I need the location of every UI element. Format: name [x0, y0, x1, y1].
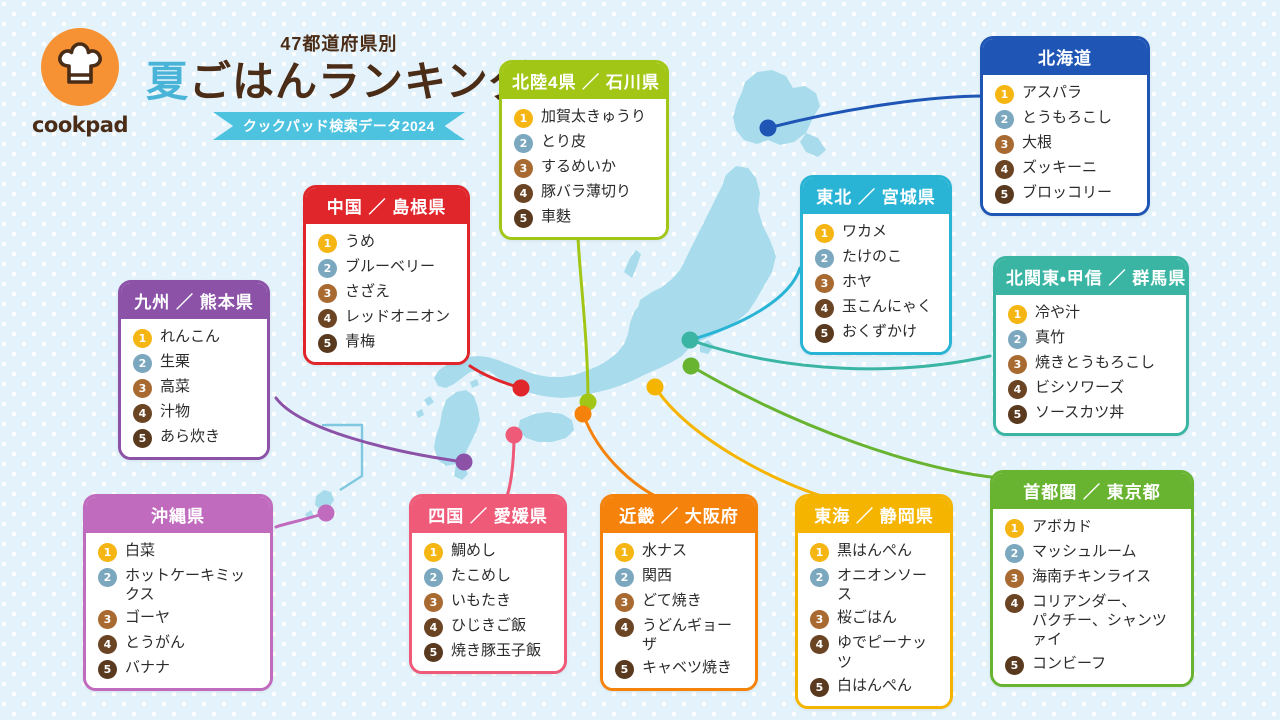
rank-item: 1れんこん — [133, 327, 256, 348]
rank-item: 5ソースカツ丼 — [1008, 403, 1175, 424]
card-body-kitakanto: 1冷や汁2真竹3焼きとうもろこし4ビシソワーズ5ソースカツ丼 — [996, 295, 1186, 433]
rank-item: 1うめ — [318, 232, 456, 253]
rank-label: れんこん — [160, 327, 220, 346]
card-title-kyushu: 九州 ／ 熊本県 — [121, 283, 267, 319]
card-tohoku[interactable]: 東北 ／ 宮城県1ワカメ2たけのこ3ホヤ4玉こんにゃく5おくずかけ — [800, 175, 952, 355]
rank-label: うどんギョーザ — [642, 616, 744, 654]
rank-label: ビシソワーズ — [1035, 378, 1124, 397]
rank-badge-1: 1 — [318, 234, 337, 253]
rank-item: 3いもたき — [424, 591, 553, 612]
card-body-tohoku: 1ワカメ2たけのこ3ホヤ4玉こんにゃく5おくずかけ — [803, 214, 949, 352]
rank-label: ブロッコリー — [1022, 183, 1112, 202]
rank-badge-1: 1 — [810, 543, 829, 562]
rank-label: キャベツ焼き — [642, 658, 732, 677]
rank-badge-3: 3 — [995, 135, 1014, 154]
rank-item: 5おくずかけ — [815, 322, 938, 343]
rank-badge-1: 1 — [1008, 305, 1027, 324]
rank-badge-5: 5 — [98, 660, 117, 679]
rank-badge-5: 5 — [514, 209, 533, 228]
dot-shikoku — [506, 427, 523, 444]
rank-item: 5あら炊き — [133, 427, 256, 448]
rank-badge-1: 1 — [615, 543, 634, 562]
rank-item: 4レッドオニオン — [318, 307, 456, 328]
rank-item: 1白菜 — [98, 541, 259, 562]
rank-label: オニオンソース — [837, 566, 939, 604]
rank-label: たけのこ — [842, 247, 902, 266]
rank-badge-1: 1 — [424, 543, 443, 562]
connector-okinawa — [276, 513, 326, 527]
rank-item: 1ワカメ — [815, 222, 938, 243]
rank-label: コリアンダー、 パクチー、シャンツァイ — [1032, 592, 1180, 650]
rank-badge-4: 4 — [98, 635, 117, 654]
rank-item: 3するめいか — [514, 157, 655, 178]
rank-label: 黒はんぺん — [837, 541, 912, 560]
connector-kyushu — [276, 398, 464, 462]
rank-label: 冷や汁 — [1035, 303, 1080, 322]
rank-item: 4コリアンダー、 パクチー、シャンツァイ — [1005, 592, 1180, 650]
rank-badge-3: 3 — [1008, 355, 1027, 374]
rank-label: ワカメ — [842, 222, 887, 241]
connector-shikoku — [506, 435, 514, 498]
rank-item: 3高菜 — [133, 377, 256, 398]
header: cookpad 47都道府県別 夏ごはんランキング クックパッド検索データ202… — [28, 22, 532, 140]
connector-kinki — [583, 414, 660, 498]
rank-item: 3海南チキンライス — [1005, 567, 1180, 588]
card-body-hokkaido: 1アスパラ2とうもろこし3大根4ズッキーニ5ブロッコリー — [983, 75, 1147, 213]
rank-badge-3: 3 — [133, 379, 152, 398]
card-kitakanto[interactable]: 北関東・甲信 ／ 群馬県1冷や汁2真竹3焼きとうもろこし4ビシソワーズ5ソースカ… — [993, 256, 1189, 436]
rank-badge-4: 4 — [133, 404, 152, 423]
rank-item: 5車麩 — [514, 207, 655, 228]
card-body-kinki: 1水ナス2関西3どて焼き4うどんギョーザ5キャベツ焼き — [603, 533, 755, 688]
card-kinki[interactable]: 近畿 ／ 大阪府1水ナス2関西3どて焼き4うどんギョーザ5キャベツ焼き — [600, 494, 758, 691]
card-title-kinki: 近畿 ／ 大阪府 — [603, 497, 755, 533]
card-body-shikoku: 1鯛めし2たこめし3いもたき4ひじきご飯5焼き豚玉子飯 — [412, 533, 564, 671]
rank-badge-3: 3 — [810, 610, 829, 629]
rank-label: ゴーヤ — [125, 608, 170, 627]
data-source-ribbon: クックパッド検索データ2024 — [213, 112, 465, 140]
rank-item: 3ゴーヤ — [98, 608, 259, 629]
rank-item: 2真竹 — [1008, 328, 1175, 349]
rank-label: バナナ — [125, 658, 170, 677]
rank-label: 焼きとうもろこし — [1035, 353, 1155, 372]
rank-label: 生栗 — [160, 352, 190, 371]
card-hokuriku[interactable]: 北陸4県 ／ 石川県1加賀太きゅうり2とり皮3するめいか4豚バラ薄切り5車麩 — [499, 60, 669, 240]
rank-badge-2: 2 — [133, 354, 152, 373]
cookpad-wordmark: cookpad — [32, 113, 128, 137]
rank-label: たこめし — [451, 566, 511, 585]
title-season: 夏 — [146, 58, 189, 105]
rank-item: 1水ナス — [615, 541, 744, 562]
dot-tokai — [647, 379, 664, 396]
chef-hat-icon — [41, 28, 119, 106]
rank-label: 豚バラ薄切り — [541, 182, 631, 201]
rank-label: ゆでピーナッツ — [837, 633, 939, 671]
connector-tokai — [655, 387, 828, 498]
rank-item: 4とうがん — [98, 633, 259, 654]
rank-badge-1: 1 — [514, 109, 533, 128]
title-rest: ごはんランキング — [189, 58, 532, 105]
rank-badge-4: 4 — [815, 299, 834, 318]
card-title-hokuriku: 北陸4県 ／ 石川県 — [502, 63, 666, 99]
rank-badge-2: 2 — [1005, 544, 1024, 563]
rank-label: とり皮 — [541, 132, 586, 151]
rank-item: 4玉こんにゃく — [815, 297, 938, 318]
rank-item: 5キャベツ焼き — [615, 658, 744, 679]
card-title-tokai: 東海 ／ 静岡県 — [798, 497, 950, 533]
rank-item: 5焼き豚玉子飯 — [424, 641, 553, 662]
rank-label: いもたき — [451, 591, 511, 610]
rank-item: 1アスパラ — [995, 83, 1136, 104]
card-title-tohoku: 東北 ／ 宮城県 — [803, 178, 949, 214]
dot-tokyo — [683, 358, 700, 375]
rank-badge-5: 5 — [815, 324, 834, 343]
rank-item: 1冷や汁 — [1008, 303, 1175, 324]
card-body-kyushu: 1れんこん2生栗3高菜4汁物5あら炊き — [121, 319, 267, 457]
rank-item: 1アボカド — [1005, 517, 1180, 538]
rank-badge-4: 4 — [1005, 594, 1024, 613]
rank-label: ブルーベリー — [345, 257, 435, 276]
rank-label: 水ナス — [642, 541, 687, 560]
rank-label: ズッキーニ — [1022, 158, 1097, 177]
card-shikoku[interactable]: 四国 ／ 愛媛県1鯛めし2たこめし3いもたき4ひじきご飯5焼き豚玉子飯 — [409, 494, 567, 674]
dot-kyushu — [456, 454, 473, 471]
rank-label: うめ — [345, 232, 375, 251]
dot-hokuriku — [580, 394, 597, 411]
rank-item: 2生栗 — [133, 352, 256, 373]
card-body-tokai: 1黒はんぺん2オニオンソース3桜ごはん4ゆでピーナッツ5白はんぺん — [798, 533, 950, 706]
rank-badge-2: 2 — [514, 134, 533, 153]
rank-badge-3: 3 — [815, 274, 834, 293]
rank-item: 3どて焼き — [615, 591, 744, 612]
rank-item: 4ビシソワーズ — [1008, 378, 1175, 399]
rank-label: アスパラ — [1022, 83, 1082, 102]
rank-item: 2ブルーベリー — [318, 257, 456, 278]
rank-item: 5ブロッコリー — [995, 183, 1136, 204]
rank-badge-1: 1 — [98, 543, 117, 562]
rank-item: 3大根 — [995, 133, 1136, 154]
rank-item: 4ひじきご飯 — [424, 616, 553, 637]
rank-item: 2関西 — [615, 566, 744, 587]
rank-badge-2: 2 — [98, 568, 117, 587]
infographic-stage: cookpad 47都道府県別 夏ごはんランキング クックパッド検索データ202… — [0, 0, 1280, 720]
rank-badge-3: 3 — [318, 284, 337, 303]
rank-item: 1加賀太きゅうり — [514, 107, 655, 128]
rank-label: 関西 — [642, 566, 672, 585]
card-body-chugoku: 1うめ2ブルーベリー3さざえ4レッドオニオン5青梅 — [306, 224, 467, 362]
rank-label: さざえ — [345, 282, 390, 301]
rank-badge-3: 3 — [514, 159, 533, 178]
rank-label: どて焼き — [642, 591, 702, 610]
dot-okinawa — [318, 505, 335, 522]
card-tokai[interactable]: 東海 ／ 静岡県1黒はんぺん2オニオンソース3桜ごはん4ゆでピーナッツ5白はんぺ… — [795, 494, 953, 709]
card-title-shikoku: 四国 ／ 愛媛県 — [412, 497, 564, 533]
rank-label: 鯛めし — [451, 541, 496, 560]
rank-badge-2: 2 — [615, 568, 634, 587]
rank-item: 2たけのこ — [815, 247, 938, 268]
rank-label: マッシュルーム — [1032, 542, 1137, 561]
rank-badge-1: 1 — [995, 85, 1014, 104]
rank-badge-5: 5 — [318, 334, 337, 353]
rank-label: とうがん — [125, 633, 185, 652]
rank-badge-2: 2 — [1008, 330, 1027, 349]
rank-label: レッドオニオン — [345, 307, 450, 326]
dot-chugoku — [513, 380, 530, 397]
rank-item: 3さざえ — [318, 282, 456, 303]
card-kyushu[interactable]: 九州 ／ 熊本県1れんこん2生栗3高菜4汁物5あら炊き — [118, 280, 270, 460]
rank-label: 大根 — [1022, 133, 1052, 152]
rank-label: アボカド — [1032, 517, 1092, 536]
rank-badge-3: 3 — [615, 593, 634, 612]
rank-badge-2: 2 — [318, 259, 337, 278]
rank-label: 加賀太きゅうり — [541, 107, 646, 126]
rank-item: 3ホヤ — [815, 272, 938, 293]
rank-item: 4汁物 — [133, 402, 256, 423]
rank-badge-1: 1 — [1005, 519, 1024, 538]
connector-hokuriku — [578, 238, 588, 402]
rank-badge-5: 5 — [810, 678, 829, 697]
rank-badge-4: 4 — [810, 635, 829, 654]
connector-tokyo — [691, 366, 1000, 478]
okinawa-bracket — [322, 425, 362, 490]
dot-tohoku — [682, 332, 699, 349]
rank-item: 1黒はんぺん — [810, 541, 939, 562]
rank-label: ホヤ — [842, 272, 872, 291]
rank-item: 2たこめし — [424, 566, 553, 587]
page-title: 夏ごはんランキング — [146, 58, 532, 105]
rank-item: 2オニオンソース — [810, 566, 939, 604]
rank-badge-5: 5 — [615, 660, 634, 679]
rank-badge-5: 5 — [1005, 656, 1024, 675]
rank-badge-4: 4 — [424, 618, 443, 637]
card-title-kitakanto: 北関東・甲信 ／ 群馬県 — [996, 259, 1186, 295]
rank-item: 3桜ごはん — [810, 608, 939, 629]
rank-label: あら炊き — [160, 427, 220, 446]
rank-item: 4うどんギョーザ — [615, 616, 744, 654]
rank-label: おくずかけ — [842, 322, 917, 341]
card-title-hokkaido: 北海道 — [983, 39, 1147, 75]
rank-label: 汁物 — [160, 402, 190, 421]
rank-badge-2: 2 — [810, 568, 829, 587]
rank-badge-4: 4 — [615, 618, 634, 637]
rank-item: 2ホットケーキミックス — [98, 566, 259, 604]
rank-badge-5: 5 — [1008, 405, 1027, 424]
rank-badge-5: 5 — [995, 185, 1014, 204]
rank-badge-1: 1 — [815, 224, 834, 243]
title-block: 47都道府県別 夏ごはんランキング クックパッド検索データ2024 — [146, 22, 532, 140]
card-title-chugoku: 中国 ／ 島根県 — [306, 188, 467, 224]
card-body-tokyo: 1アボカド2マッシュルーム3海南チキンライス4コリアンダー、 パクチー、シャンツ… — [993, 509, 1191, 684]
rank-label: 真竹 — [1035, 328, 1065, 347]
rank-badge-4: 4 — [1008, 380, 1027, 399]
rank-label: コンビーフ — [1032, 654, 1106, 673]
rank-badge-2: 2 — [424, 568, 443, 587]
rank-label: ソースカツ丼 — [1035, 403, 1124, 422]
rank-badge-2: 2 — [815, 249, 834, 268]
rank-label: ひじきご飯 — [451, 616, 526, 635]
rank-badge-4: 4 — [995, 160, 1014, 179]
dot-kinki — [575, 406, 592, 423]
rank-item: 4ズッキーニ — [995, 158, 1136, 179]
card-hokkaido[interactable]: 北海道1アスパラ2とうもろこし3大根4ズッキーニ5ブロッコリー — [980, 36, 1150, 216]
rank-label: 玉こんにゃく — [842, 297, 932, 316]
cookpad-logo: cookpad — [28, 22, 132, 137]
connector-hokkaido — [768, 96, 985, 128]
rank-item: 4ゆでピーナッツ — [810, 633, 939, 671]
rank-label: 高菜 — [160, 377, 190, 396]
card-tokyo[interactable]: 首都圏 ／ 東京都1アボカド2マッシュルーム3海南チキンライス4コリアンダー、 … — [990, 470, 1194, 687]
rank-item: 2とり皮 — [514, 132, 655, 153]
rank-label: するめいか — [541, 157, 616, 176]
rank-label: 青梅 — [345, 332, 375, 351]
rank-label: とうもろこし — [1022, 108, 1112, 127]
rank-badge-4: 4 — [514, 184, 533, 203]
rank-badge-1: 1 — [133, 329, 152, 348]
rank-item: 3焼きとうもろこし — [1008, 353, 1175, 374]
rank-item: 5青梅 — [318, 332, 456, 353]
rank-badge-3: 3 — [424, 593, 443, 612]
rank-badge-5: 5 — [424, 643, 443, 662]
rank-item: 4豚バラ薄切り — [514, 182, 655, 203]
card-body-okinawa: 1白菜2ホットケーキミックス3ゴーヤ4とうがん5バナナ — [86, 533, 270, 688]
rank-badge-3: 3 — [1005, 569, 1024, 588]
rank-label: 白はんぺん — [837, 676, 912, 695]
connector-chugoku — [470, 366, 521, 388]
rank-item: 5白はんぺん — [810, 676, 939, 697]
rank-item: 5コンビーフ — [1005, 654, 1180, 675]
card-title-okinawa: 沖縄県 — [86, 497, 270, 533]
rank-label: 桜ごはん — [837, 608, 897, 627]
rank-item: 2マッシュルーム — [1005, 542, 1180, 563]
rank-label: ホットケーキミックス — [125, 566, 259, 604]
rank-label: 焼き豚玉子飯 — [451, 641, 541, 660]
rank-badge-4: 4 — [318, 309, 337, 328]
rank-item: 5バナナ — [98, 658, 259, 679]
rank-label: 海南チキンライス — [1032, 567, 1151, 586]
rank-label: 車麩 — [541, 207, 571, 226]
rank-item: 1鯛めし — [424, 541, 553, 562]
rank-badge-2: 2 — [995, 110, 1014, 129]
rank-badge-3: 3 — [98, 610, 117, 629]
title-kicker: 47都道府県別 — [280, 30, 397, 56]
card-title-tokyo: 首都圏 ／ 東京都 — [993, 473, 1191, 509]
rank-item: 2とうもろこし — [995, 108, 1136, 129]
rank-badge-5: 5 — [133, 429, 152, 448]
card-chugoku[interactable]: 中国 ／ 島根県1うめ2ブルーベリー3さざえ4レッドオニオン5青梅 — [303, 185, 470, 365]
dot-hokkaido — [760, 120, 777, 137]
card-body-hokuriku: 1加賀太きゅうり2とり皮3するめいか4豚バラ薄切り5車麩 — [502, 99, 666, 237]
rank-label: 白菜 — [125, 541, 155, 560]
connector-tohoku — [690, 268, 800, 340]
card-okinawa[interactable]: 沖縄県1白菜2ホットケーキミックス3ゴーヤ4とうがん5バナナ — [83, 494, 273, 691]
